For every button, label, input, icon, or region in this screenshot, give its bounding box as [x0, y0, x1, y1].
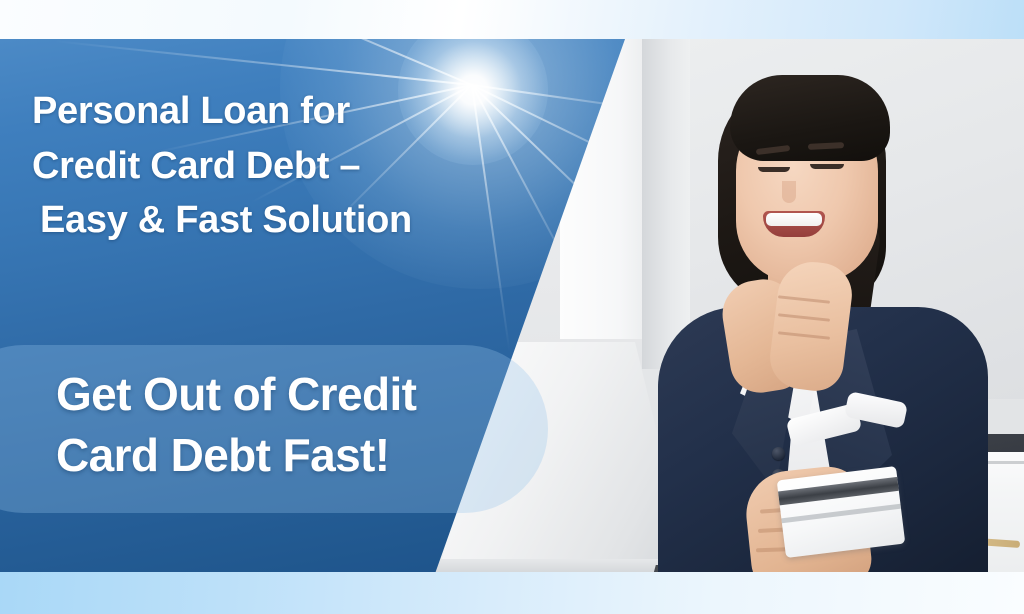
- card-signature-band: [781, 504, 901, 524]
- headline-line-3: Easy & Fast Solution: [32, 193, 502, 248]
- nose: [782, 181, 796, 203]
- headline-line-2: Credit Card Debt –: [32, 139, 502, 194]
- page-title: Personal Loan for Credit Card Debt – Eas…: [32, 84, 502, 248]
- bottom-light-band: [0, 572, 1024, 614]
- hand-right: [766, 258, 855, 394]
- top-light-band: [0, 0, 1024, 39]
- promo-banner: Personal Loan for Credit Card Debt – Eas…: [0, 0, 1024, 614]
- teeth: [766, 213, 822, 226]
- clasped-hands: [726, 254, 854, 394]
- headline-line-1: Personal Loan for: [32, 90, 350, 132]
- eye-left: [758, 167, 790, 172]
- subheadline-line-2: Card Debt Fast!: [56, 425, 556, 486]
- blazer-button: [772, 447, 785, 460]
- credit-card-icon: [777, 466, 906, 558]
- subheadline: Get Out of Credit Card Debt Fast!: [56, 364, 556, 486]
- eye-right: [810, 164, 844, 169]
- subheadline-line-1: Get Out of Credit: [56, 364, 556, 425]
- smiling-mouth: [763, 211, 825, 237]
- card-magnetic-stripe: [778, 477, 899, 506]
